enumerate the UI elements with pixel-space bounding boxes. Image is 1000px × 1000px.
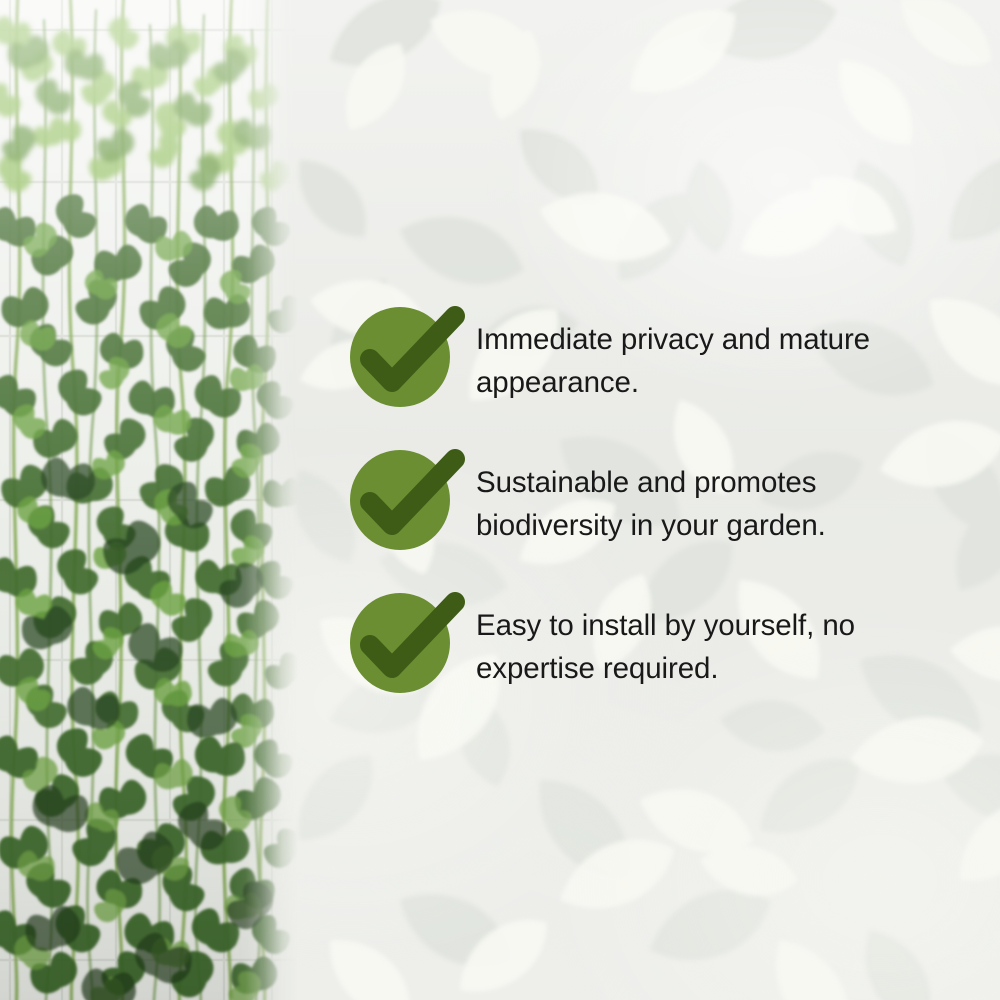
check-circle-icon bbox=[348, 446, 466, 550]
list-item: Easy to install by yourself, no expertis… bbox=[348, 582, 948, 682]
list-item-label: Immediate privacy and mature appearance. bbox=[476, 318, 948, 404]
list-item-label: Sustainable and promotes biodiversity in… bbox=[476, 461, 948, 547]
check-circle-icon bbox=[348, 589, 466, 693]
benefits-list: Immediate privacy and mature appearance.… bbox=[348, 296, 948, 682]
list-item-label: Easy to install by yourself, no expertis… bbox=[476, 604, 948, 690]
check-circle-icon bbox=[348, 303, 466, 407]
promo-poster: Immediate privacy and mature appearance.… bbox=[0, 0, 1000, 1000]
list-item: Sustainable and promotes biodiversity in… bbox=[348, 439, 948, 539]
ivy-green-wall-photo bbox=[0, 0, 300, 1000]
list-item: Immediate privacy and mature appearance. bbox=[348, 296, 948, 396]
